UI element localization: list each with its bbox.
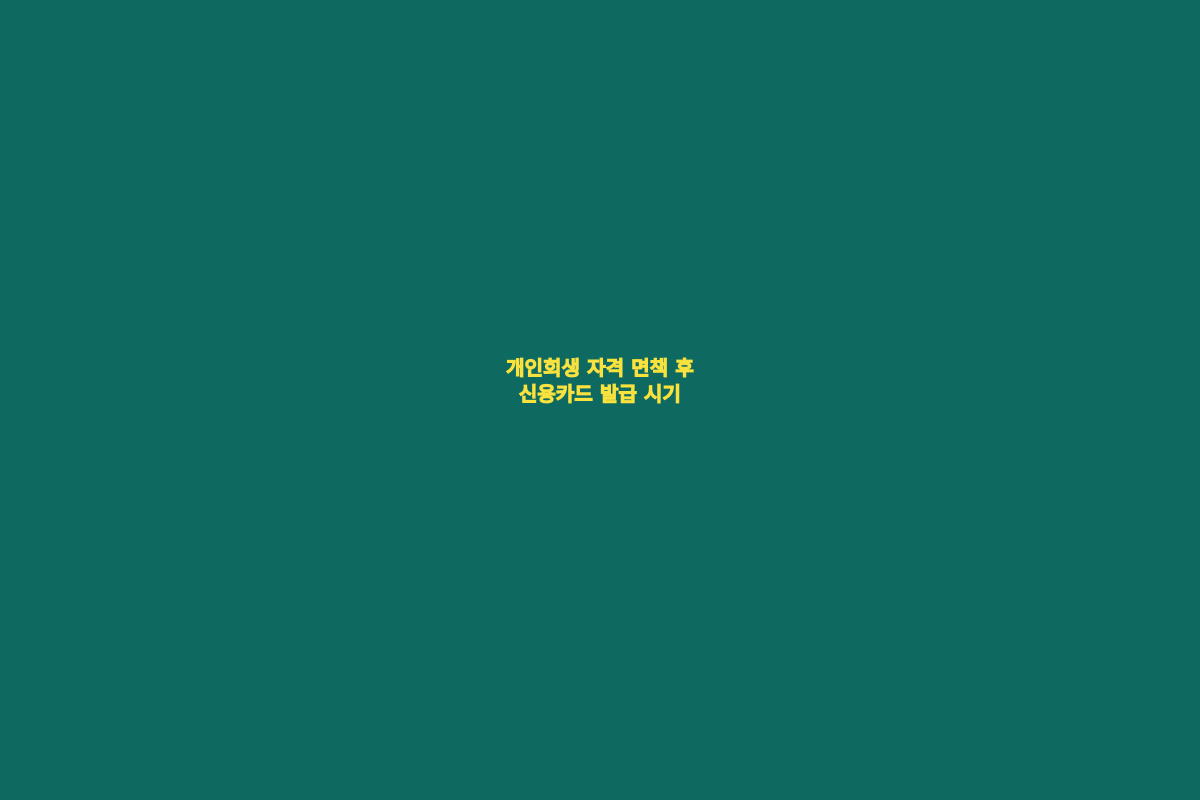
banner-title-line-2: 신용카드 발급 시기 bbox=[100, 381, 1100, 407]
banner-title-block: 개인회생 자격 면책 후 신용카드 발급 시기 bbox=[100, 355, 1100, 407]
banner-title-line-1: 개인회생 자격 면책 후 bbox=[100, 355, 1100, 381]
text-banner: 개인회생 자격 면책 후 신용카드 발급 시기 bbox=[0, 0, 1200, 800]
